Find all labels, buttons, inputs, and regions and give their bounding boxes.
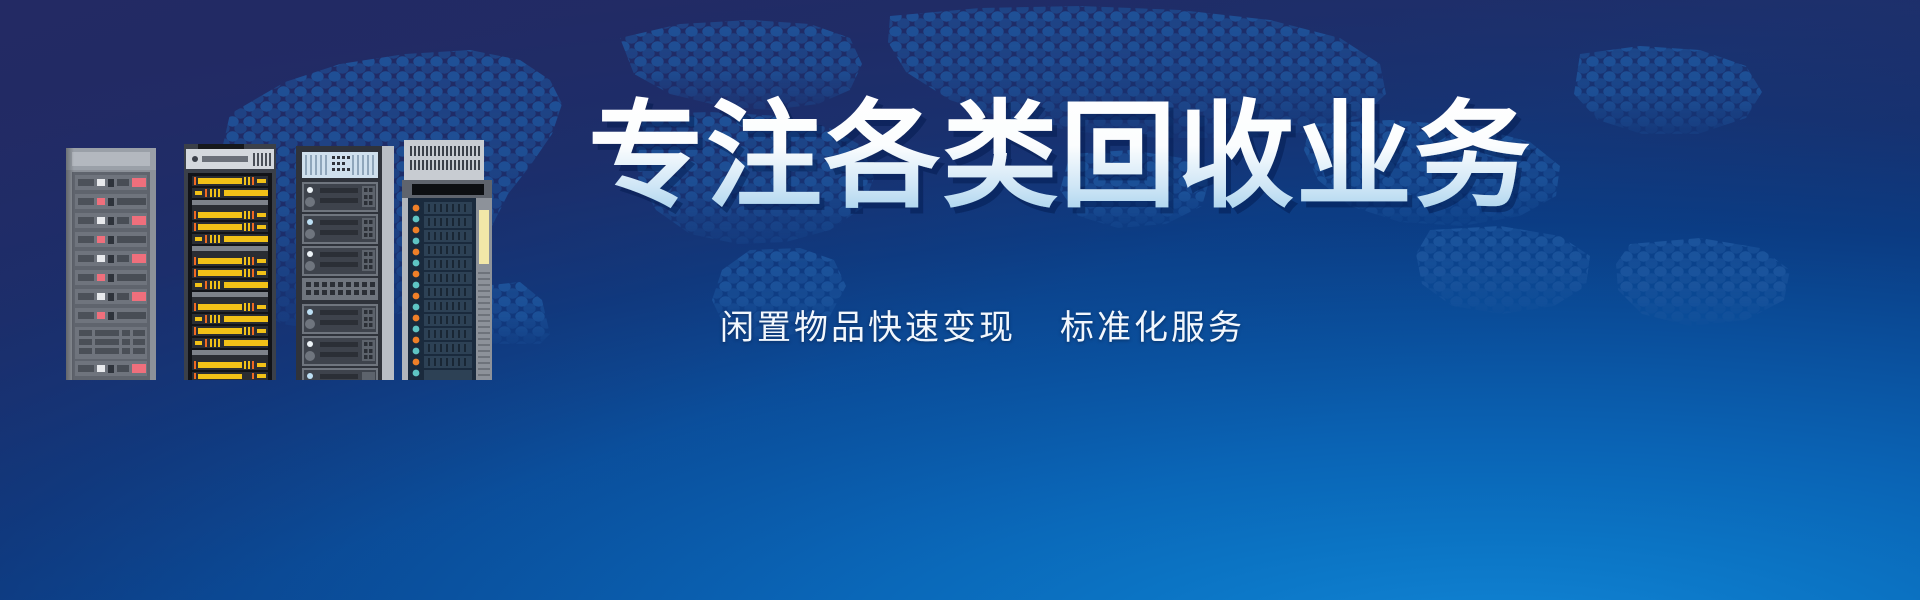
server-racks-illustration <box>52 140 492 380</box>
headline: 专注各类回收业务 <box>588 96 1418 224</box>
subtitle-item-2: 标准化服务 <box>1060 300 1245 349</box>
server-rack-1 <box>66 148 156 380</box>
subtitle: 闲置物品快速变现 标准化服务 <box>720 300 1245 349</box>
server-rack-2 <box>184 144 276 380</box>
server-rack-3 <box>296 146 394 380</box>
subtitle-item-1: 闲置物品快速变现 <box>720 300 1016 349</box>
server-rack-4 <box>402 140 492 380</box>
promo-banner: 专注各类回收业务 闲置物品快速变现 标准化服务 <box>0 0 1920 600</box>
headline-text: 专注各类回收业务 <box>588 89 1532 224</box>
